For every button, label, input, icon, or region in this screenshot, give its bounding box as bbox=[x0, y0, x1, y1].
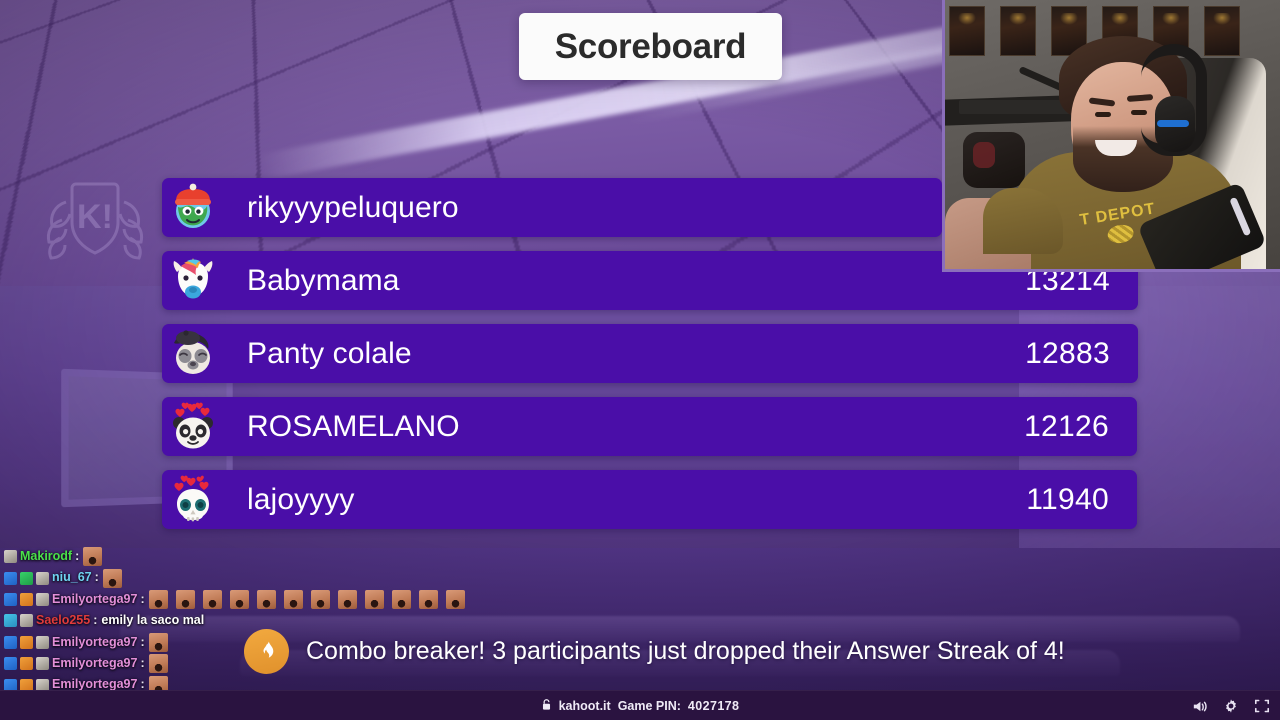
settings-gear-icon[interactable] bbox=[1222, 698, 1239, 715]
sword-badge-icon bbox=[36, 593, 49, 606]
webcam-overlay[interactable]: T DEPOT bbox=[942, 0, 1280, 272]
gift-orange-badge-icon bbox=[20, 657, 33, 670]
chat-emote-icon bbox=[149, 654, 168, 673]
kahoot-shield-crest-icon: K! bbox=[36, 162, 154, 274]
scoreboard-row: rikyyypeluquero13214 bbox=[162, 178, 942, 237]
chat-separator: : bbox=[140, 632, 144, 653]
game-pin-group: kahoot.it Game PIN: 4027178 bbox=[541, 698, 740, 714]
game-pin-label: Game PIN: bbox=[618, 699, 681, 713]
chat-message: Emilyortega97: bbox=[0, 632, 470, 653]
chat-username[interactable]: Emilyortega97 bbox=[52, 632, 137, 653]
chat-emote-group bbox=[149, 633, 171, 652]
game-pin-value: 4027178 bbox=[688, 699, 739, 713]
player-bottom-bar: kahoot.it Game PIN: 4027178 bbox=[0, 690, 1280, 720]
chat-emote-icon bbox=[149, 590, 168, 609]
webcam-eye-left bbox=[1095, 112, 1111, 117]
gift-orange-badge-icon bbox=[20, 636, 33, 649]
kahoot-site-label: kahoot.it bbox=[559, 699, 611, 713]
chat-emote-icon bbox=[103, 569, 122, 588]
poster bbox=[1000, 6, 1036, 56]
player-score: 11940 bbox=[1026, 483, 1109, 517]
chat-text: emily la saco mal bbox=[101, 610, 204, 631]
globe-beanie-avatar bbox=[167, 182, 219, 234]
chat-emote-group bbox=[149, 590, 468, 609]
chat-emote-icon bbox=[176, 590, 195, 609]
sub-blue-badge-icon bbox=[4, 657, 17, 670]
player-controls bbox=[1191, 691, 1270, 720]
page-title: Scoreboard bbox=[519, 13, 782, 80]
player-score: 12883 bbox=[1025, 337, 1110, 371]
chat-message: niu_67: bbox=[0, 567, 470, 588]
fullscreen-icon[interactable] bbox=[1253, 698, 1270, 715]
chat-emote-icon bbox=[338, 590, 357, 609]
kahoot-scoreboard-screen: K! Scoreboard rikyyypeluquero13214 bbox=[0, 0, 1280, 720]
poster bbox=[949, 6, 985, 56]
sword-badge-icon bbox=[4, 550, 17, 563]
player-score: 12126 bbox=[1024, 410, 1109, 444]
sword-badge-icon bbox=[36, 636, 49, 649]
chat-separator: : bbox=[140, 589, 144, 610]
chat-username[interactable]: Makirodf bbox=[20, 546, 72, 567]
chat-emote-group bbox=[149, 654, 171, 673]
scoreboard-row: Panty colale12883 bbox=[162, 324, 1138, 383]
sub-blue-badge-icon bbox=[4, 636, 17, 649]
sword-badge-icon bbox=[36, 572, 49, 585]
chat-separator: : bbox=[140, 653, 144, 674]
player-nickname: Babymama bbox=[247, 264, 400, 298]
skull-hearts-avatar bbox=[167, 474, 219, 526]
sub-blue-badge-icon bbox=[4, 593, 17, 606]
headphone-earcup bbox=[1155, 96, 1195, 152]
gift-orange-badge-icon bbox=[20, 593, 33, 606]
chat-separator: : bbox=[75, 546, 79, 567]
chat-emote-icon bbox=[230, 590, 249, 609]
chat-emote-icon bbox=[284, 590, 303, 609]
chat-emote-icon bbox=[257, 590, 276, 609]
gift-green-badge-icon bbox=[20, 572, 33, 585]
player-nickname: ROSAMELANO bbox=[247, 410, 460, 444]
webcam-bag bbox=[963, 132, 1025, 188]
poster bbox=[1204, 6, 1240, 56]
sword-badge-icon bbox=[20, 614, 33, 627]
volume-icon[interactable] bbox=[1191, 698, 1208, 715]
lock-icon bbox=[541, 698, 552, 714]
sloth-beret-avatar bbox=[167, 328, 219, 380]
chat-message: Emilyortega97: bbox=[0, 589, 470, 610]
scoreboard-row: ROSAMELANO12126 bbox=[162, 397, 1137, 456]
chat-emote-group bbox=[83, 547, 105, 566]
page-title-text: Scoreboard bbox=[555, 27, 747, 67]
chat-message: Emilyortega97: bbox=[0, 653, 470, 674]
chat-emote-icon bbox=[419, 590, 438, 609]
gift-cyan-badge-icon bbox=[4, 614, 17, 627]
chat-username[interactable]: Emilyortega97 bbox=[52, 653, 137, 674]
sub-blue-badge-icon bbox=[4, 572, 17, 585]
chat-message: Makirodf: bbox=[0, 546, 470, 567]
chat-message: Saelo255:emily la saco mal bbox=[0, 610, 470, 631]
chat-emote-group bbox=[103, 569, 125, 588]
chat-emote-icon bbox=[311, 590, 330, 609]
panda-hearts-avatar bbox=[167, 401, 219, 453]
player-nickname: Panty colale bbox=[247, 337, 412, 371]
chat-emote-icon bbox=[446, 590, 465, 609]
chat-username[interactable]: Saelo255 bbox=[36, 610, 90, 631]
player-nickname: rikyyypeluquero bbox=[247, 191, 459, 225]
player-nickname: lajoyyyy bbox=[247, 483, 355, 517]
chat-emote-icon bbox=[149, 633, 168, 652]
chat-emote-icon bbox=[365, 590, 384, 609]
chat-username[interactable]: Emilyortega97 bbox=[52, 589, 137, 610]
chat-separator: : bbox=[93, 610, 97, 631]
unicorn-pacifier-avatar bbox=[167, 255, 219, 307]
chat-emote-icon bbox=[83, 547, 102, 566]
svg-text:K!: K! bbox=[77, 198, 113, 236]
chat-username[interactable]: niu_67 bbox=[52, 567, 92, 588]
sword-badge-icon bbox=[36, 657, 49, 670]
webcam-shirt-logo bbox=[1106, 223, 1134, 245]
chat-separator: : bbox=[95, 567, 99, 588]
chat-emote-icon bbox=[392, 590, 411, 609]
chat-emote-icon bbox=[203, 590, 222, 609]
scoreboard-row: lajoyyyy11940 bbox=[162, 470, 1137, 529]
